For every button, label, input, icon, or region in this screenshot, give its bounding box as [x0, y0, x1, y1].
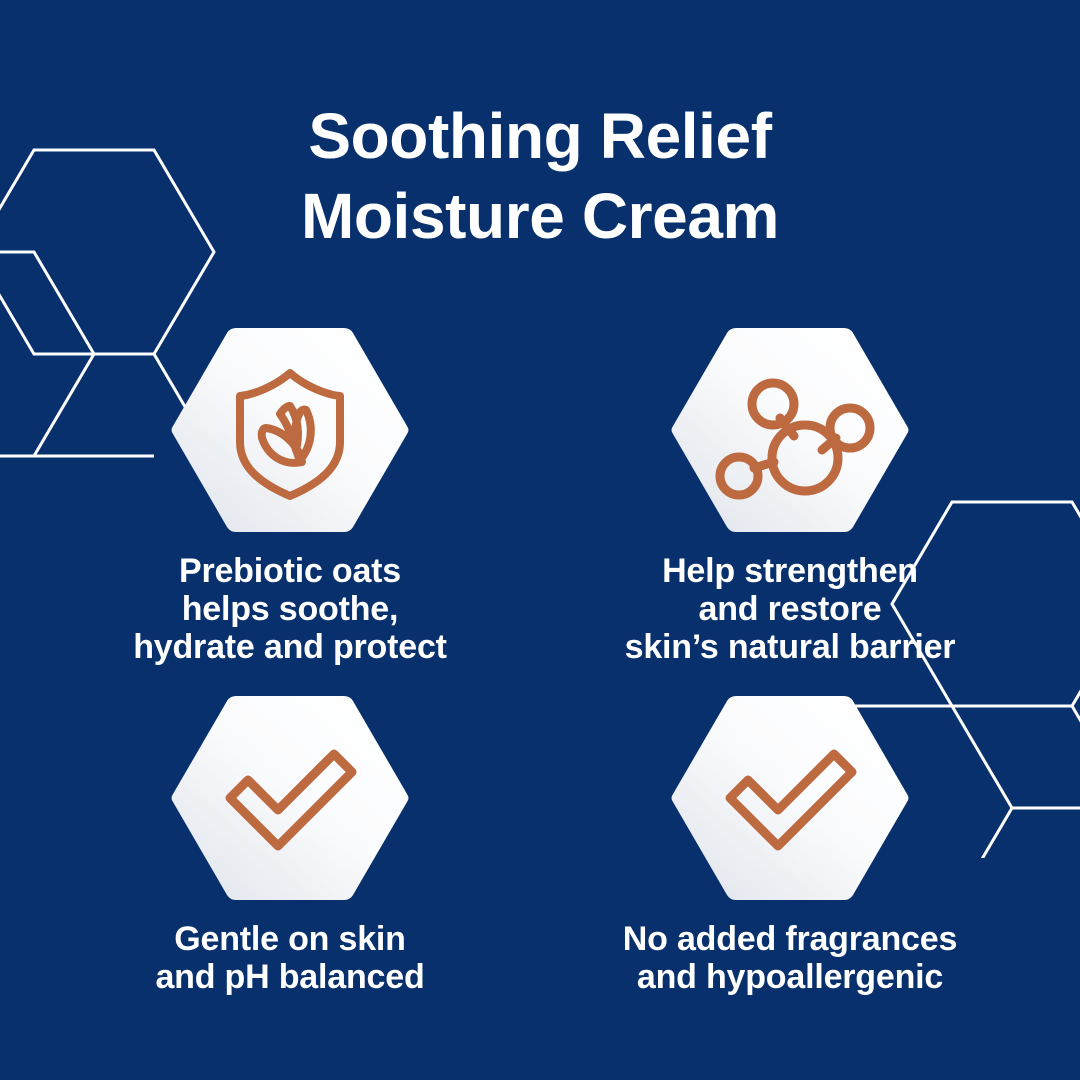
- caption-line: and restore: [625, 590, 956, 628]
- feature-item-gentle-ph: Gentle on skin and pH balanced: [60, 690, 520, 996]
- product-benefits-infographic: Soothing Relief Moisture Cream: [0, 0, 1080, 1080]
- hexagon-tile: [170, 690, 410, 906]
- feature-caption: No added fragrances and hypoallergenic: [623, 920, 957, 996]
- feature-item-prebiotic-oats: Prebiotic oats helps soothe, hydrate and…: [60, 322, 520, 666]
- caption-line: hydrate and protect: [133, 628, 447, 666]
- caption-line: and pH balanced: [155, 958, 424, 996]
- page-title: Soothing Relief Moisture Cream: [0, 96, 1080, 256]
- caption-line: helps soothe,: [133, 590, 447, 628]
- feature-item-no-fragrance: No added fragrances and hypoallergenic: [560, 690, 1020, 996]
- feature-caption: Prebiotic oats helps soothe, hydrate and…: [133, 552, 447, 666]
- title-line-2: Moisture Cream: [0, 176, 1080, 256]
- caption-line: and hypoallergenic: [623, 958, 957, 996]
- title-line-1: Soothing Relief: [0, 96, 1080, 176]
- caption-line: No added fragrances: [623, 920, 957, 958]
- feature-caption: Gentle on skin and pH balanced: [155, 920, 424, 996]
- hexagon-tile: [670, 690, 910, 906]
- caption-line: Gentle on skin: [155, 920, 424, 958]
- feature-grid: Prebiotic oats helps soothe, hydrate and…: [60, 322, 1020, 996]
- hexagon-tile: [170, 322, 410, 538]
- hexagon-tile: [670, 322, 910, 538]
- caption-line: skin’s natural barrier: [625, 628, 956, 666]
- feature-item-skin-barrier: Help strengthen and restore skin’s natur…: [560, 322, 1020, 666]
- feature-caption: Help strengthen and restore skin’s natur…: [625, 552, 956, 666]
- caption-line: Help strengthen: [625, 552, 956, 590]
- caption-line: Prebiotic oats: [133, 552, 447, 590]
